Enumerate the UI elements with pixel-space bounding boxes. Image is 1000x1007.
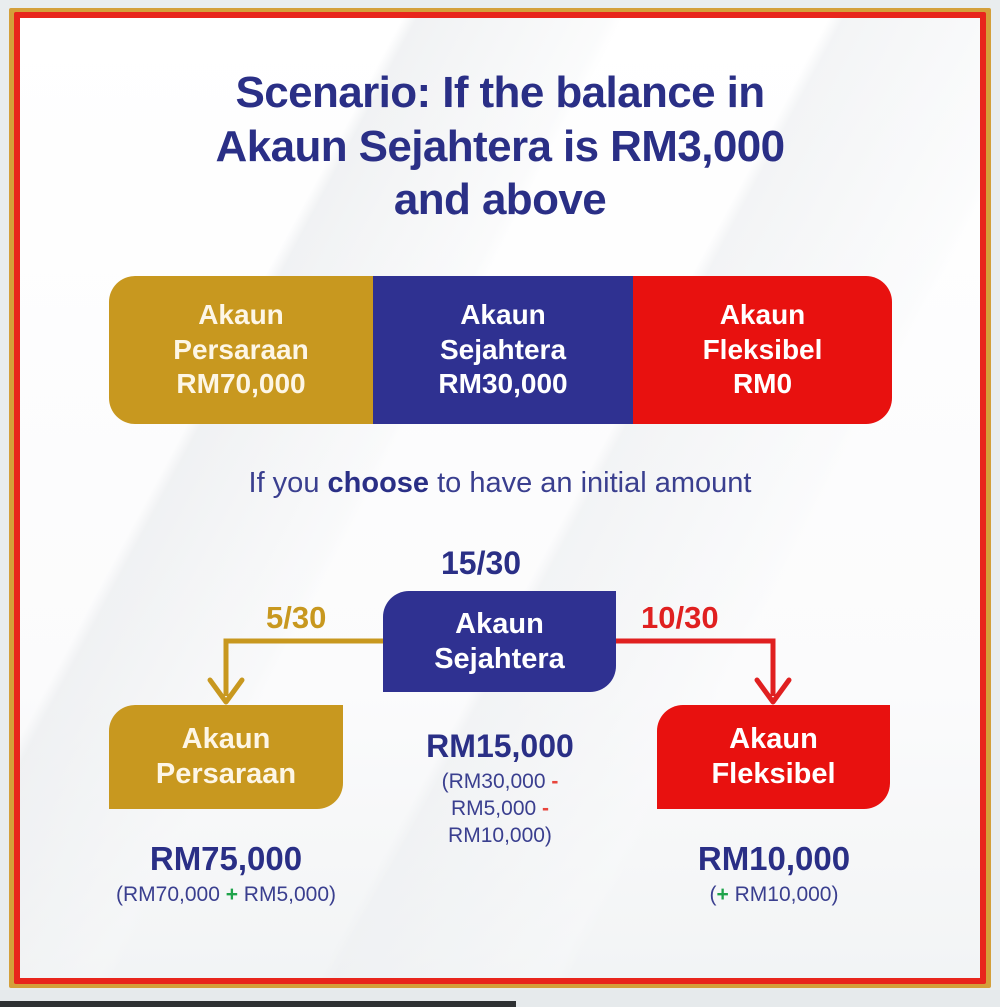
- flow-node-akaun-persaraan: Akaun Persaraan: [109, 705, 343, 809]
- result-breakdown-a: (RM70,000: [116, 883, 226, 906]
- result-akaun-sejahtera: RM15,000 (RM30,000 - RM5,000 - RM10,000): [395, 728, 605, 850]
- result-akaun-fleksibel: RM10,000 (+ RM10,000): [634, 840, 914, 908]
- flow-node-akaun-sejahtera: Akaun Sejahtera: [383, 591, 616, 692]
- flow-node-akaun-fleksibel: Akaun Fleksibel: [657, 705, 890, 809]
- result-breakdown-prefix: (: [710, 883, 717, 906]
- flow-node-label-line2: Sejahtera: [434, 642, 565, 677]
- result-total: RM15,000: [395, 728, 605, 765]
- result-breakdown-b: RM5,000: [451, 797, 542, 820]
- red-arrow-to-fleksibel: [616, 641, 789, 702]
- result-breakdown: (RM30,000 - RM5,000 - RM10,000): [395, 768, 605, 850]
- infographic-screen: Scenario: If the balance in Akaun Sejaht…: [0, 0, 1000, 1007]
- infographic-canvas: Scenario: If the balance in Akaun Sejaht…: [20, 18, 980, 978]
- flow-node-label-line2: Persaraan: [156, 757, 296, 792]
- flow-node-label-line1: Akaun: [434, 607, 565, 642]
- result-breakdown-line-2: RM5,000 -: [395, 795, 605, 822]
- fraction-label-persaraan: 5/30: [266, 600, 326, 636]
- flow-node-label-line2: Fleksibel: [711, 757, 835, 792]
- gold-arrow-to-persaraan: [210, 641, 383, 702]
- result-breakdown: (+ RM10,000): [634, 882, 914, 908]
- minus-operator-icon: -: [542, 797, 549, 820]
- result-akaun-persaraan: RM75,000 (RM70,000 + RM5,000): [86, 840, 366, 908]
- result-breakdown-b: RM10,000): [729, 883, 839, 906]
- result-total: RM75,000: [86, 840, 366, 878]
- result-breakdown: (RM70,000 + RM5,000): [86, 882, 366, 908]
- flow-node-label-line1: Akaun: [156, 722, 296, 757]
- fraction-label-sejahtera: 15/30: [441, 545, 521, 582]
- plus-operator-icon: +: [226, 883, 238, 906]
- minus-operator-icon: -: [551, 770, 558, 793]
- plus-operator-icon: +: [717, 883, 729, 906]
- result-total: RM10,000: [634, 840, 914, 878]
- result-breakdown-line-3: RM10,000): [395, 822, 605, 849]
- result-breakdown-a: (RM30,000: [442, 770, 552, 793]
- result-breakdown-line-1: (RM30,000 -: [395, 768, 605, 795]
- allocation-flow-diagram: 5/30 15/30 10/30 Akaun Sejahtera Akaun P…: [20, 18, 980, 978]
- fraction-label-fleksibel: 10/30: [641, 600, 719, 636]
- flow-node-label-line1: Akaun: [711, 722, 835, 757]
- bottom-dark-bar: [0, 1001, 516, 1007]
- result-breakdown-b: RM5,000): [238, 883, 336, 906]
